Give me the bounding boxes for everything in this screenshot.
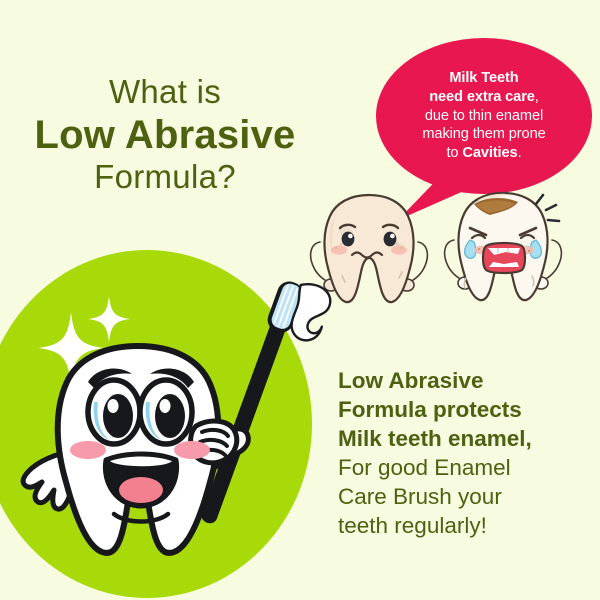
bubble-line-2: need extra care — [429, 89, 535, 105]
body-copy: Low Abrasive Formula protects Milk teeth… — [338, 366, 584, 540]
bubble-line-5-suffix: . — [518, 145, 522, 161]
speech-bubble-text: Milk Teeth need extra care, due to thin … — [410, 69, 557, 164]
headline: What is Low Abrasive Formula? — [0, 74, 330, 196]
headline-line-3: Formula? — [0, 159, 330, 196]
body-copy-line-5: Care Brush your — [338, 482, 584, 511]
body-copy-line-1: Low Abrasive — [338, 366, 584, 395]
body-copy-line-6: teeth regularly! — [338, 511, 584, 540]
bubble-line-4: making them prone — [422, 126, 545, 142]
bubble-line-1: Milk Teeth — [449, 70, 518, 86]
bubble-line-5-bold: Cavities — [462, 145, 517, 161]
poster-canvas: What is Low Abrasive Formula? Milk Teeth… — [0, 0, 600, 600]
bubble-line-3: due to thin enamel — [425, 108, 543, 124]
body-copy-line-4: For good Enamel — [338, 453, 584, 482]
speech-bubble: Milk Teeth need extra care, due to thin … — [376, 38, 592, 194]
body-copy-line-2: Formula protects — [338, 395, 584, 424]
bubble-line-5-prefix: to — [446, 145, 462, 161]
body-copy-line-3: Milk teeth enamel, — [338, 424, 584, 453]
happy-tooth-mascot-illustration — [14, 330, 266, 588]
bubble-line-2-comma: , — [535, 89, 539, 105]
headline-line-2: Low Abrasive — [0, 113, 330, 158]
headline-line-1: What is — [0, 74, 330, 111]
crying-cavity-tooth-illustration — [436, 182, 576, 310]
